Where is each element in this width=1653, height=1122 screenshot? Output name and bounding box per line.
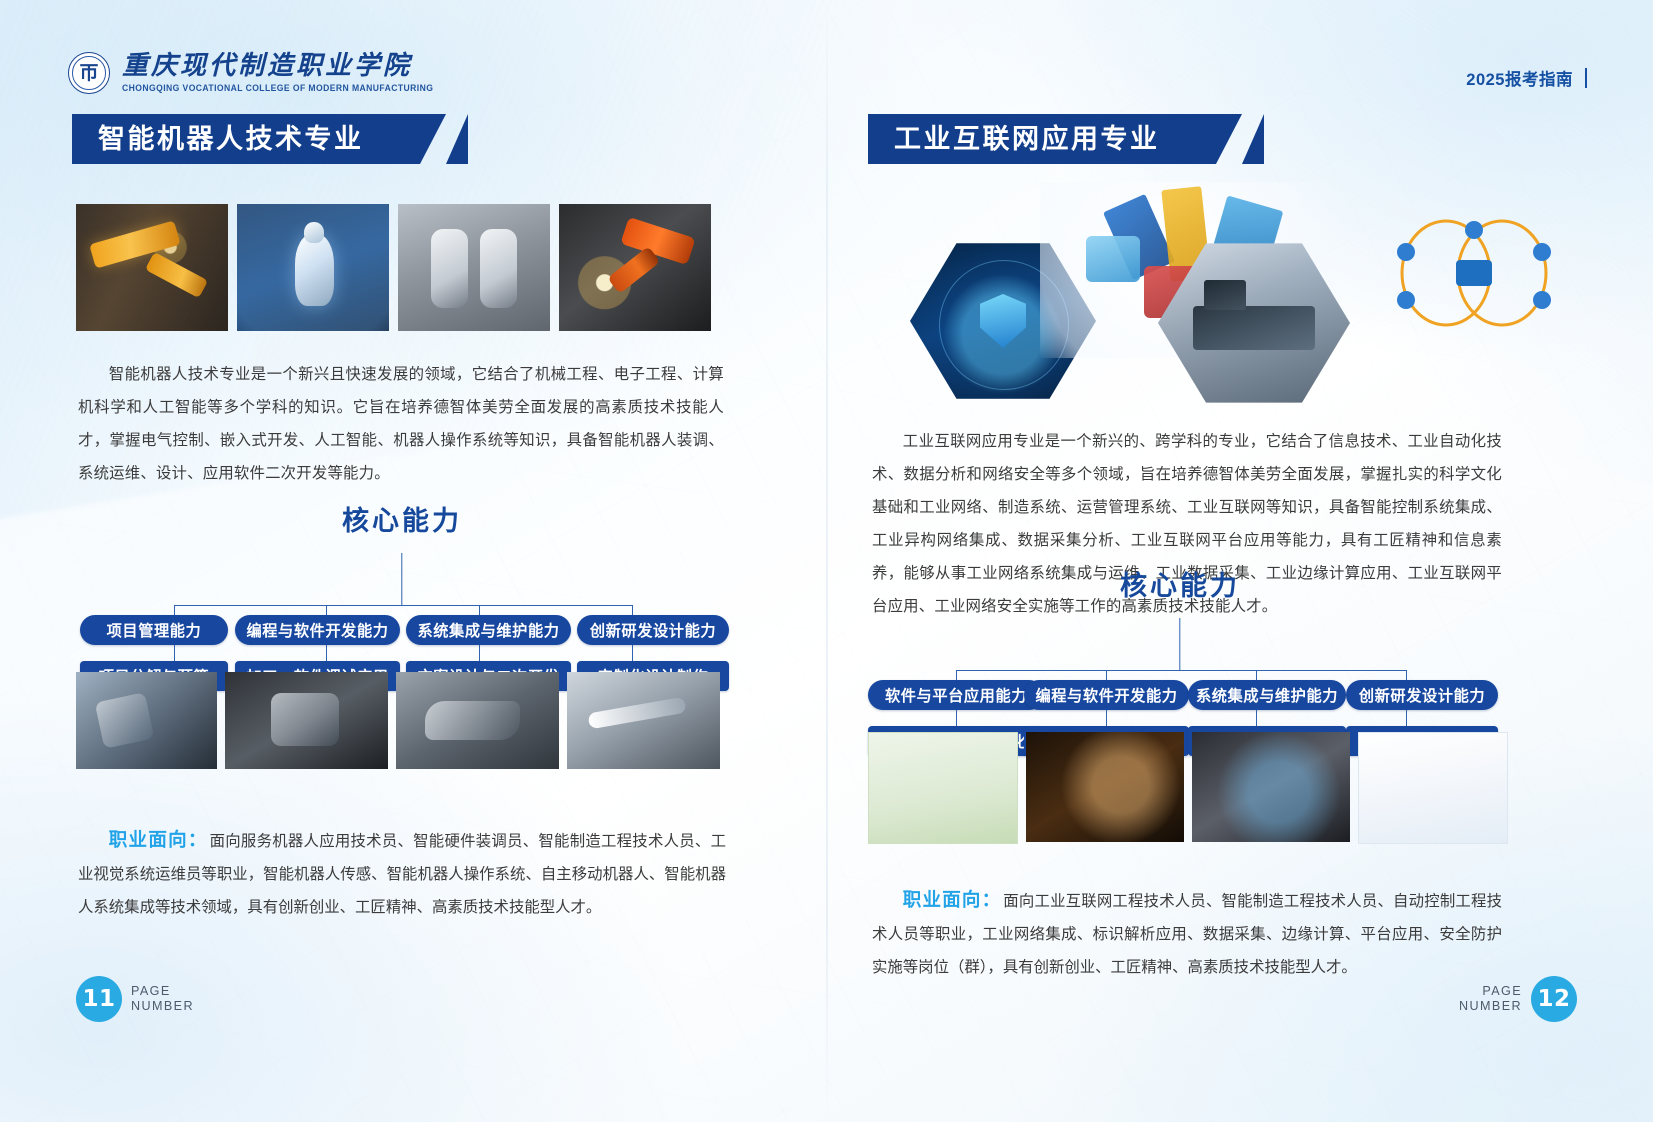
- fiber-optic-photo: [1026, 732, 1184, 842]
- tree-rail: [174, 605, 632, 606]
- left-photo-row: [76, 204, 711, 331]
- right-career-block: 职业面向：面向工业互联网工程技术人员、智能制造工程技术人员、自动控制工程技术人员…: [872, 883, 1502, 984]
- left-core-top-chip-2: 编程与软件开发能力: [235, 615, 400, 645]
- devops-infinity-loop-diagram: [1390, 208, 1558, 338]
- right-core-top-chip-1: 软件与平台应用能力: [868, 680, 1044, 710]
- college-masthead: 帀 重庆现代制造职业学院 CHONGQING VOCATIONAL COLLEG…: [68, 52, 433, 94]
- left-core-top-chip-4: 创新研发设计能力: [577, 615, 729, 645]
- right-page-word-top: PAGE: [1482, 984, 1522, 999]
- right-core-top-chip-2: 编程与软件开发能力: [1024, 680, 1189, 710]
- left-section-banner: 智能机器人技术专业: [72, 114, 468, 164]
- left-core-top-chip-1: 项目管理能力: [80, 615, 228, 645]
- right-banner-title: 工业互联网应用专业: [894, 126, 1160, 153]
- left-banner-wedge: [446, 114, 468, 164]
- left-core-top-chip-3: 系统集成与维护能力: [406, 615, 571, 645]
- left-page-word-bottom: NUMBER: [131, 999, 194, 1014]
- right-page-number-words: PAGE NUMBER: [1459, 984, 1522, 1014]
- left-career-label: 职业面向：: [109, 829, 208, 850]
- right-page-number: PAGE NUMBER 12: [1459, 976, 1577, 1022]
- guide-divider: [1585, 68, 1587, 88]
- right-banner-wedge: [1242, 114, 1264, 164]
- industrial-internet-poster: [1358, 732, 1508, 844]
- cloud-device-photo: [1192, 732, 1350, 842]
- college-name-cn: 重庆现代制造职业学院: [122, 53, 433, 80]
- left-page-number: 11 PAGE NUMBER: [76, 976, 194, 1022]
- right-banner-plate: 工业互联网应用专业: [868, 114, 1216, 164]
- college-name-en: CHONGQING VOCATIONAL COLLEGE OF MODERN M…: [122, 82, 433, 93]
- left-career-paragraph: 职业面向：面向服务机器人应用技术员、智能硬件装调员、智能制造工程技术人员、工业视…: [78, 823, 726, 924]
- left-page-number-words: PAGE NUMBER: [131, 984, 194, 1014]
- crest-glyph: 帀: [69, 53, 109, 93]
- left-intro-paragraph: 智能机器人技术专业是一个新兴且快速发展的领域，它结合了机械工程、电子工程、计算机…: [78, 358, 724, 490]
- right-page-number-bubble: 12: [1531, 976, 1577, 1022]
- college-crest-icon: 帀: [68, 52, 110, 94]
- tree-rail: [956, 670, 1406, 671]
- right-core-top-chip-3: 系统集成与维护能力: [1188, 680, 1346, 710]
- left-banner-plate: 智能机器人技术专业: [72, 114, 420, 164]
- right-core-top-chip-4: 创新研发设计能力: [1346, 680, 1498, 710]
- left-core-title: 核心能力: [76, 508, 728, 535]
- left-page-number-bubble: 11: [76, 976, 122, 1022]
- diagram-panel-6: [1086, 236, 1140, 282]
- masthead-text: 重庆现代制造职业学院 CHONGQING VOCATIONAL COLLEGE …: [122, 53, 433, 92]
- robot-hand-photo: [396, 672, 559, 769]
- robot-cell-photo: [76, 672, 217, 769]
- left-career-block: 职业面向：面向服务机器人应用技术员、智能硬件装调员、智能制造工程技术人员、工业视…: [78, 823, 726, 924]
- right-page-word-bottom: NUMBER: [1459, 999, 1522, 1014]
- page-fold-line: [826, 0, 828, 1122]
- admission-guide-tag: 2025报考指南: [1466, 66, 1587, 90]
- robot-arm-detail-photo: [567, 672, 720, 769]
- left-page-word-top: PAGE: [131, 984, 194, 999]
- guide-label: 2025报考指南: [1466, 66, 1573, 90]
- right-section-banner: 工业互联网应用专业: [868, 114, 1264, 164]
- left-banner-title: 智能机器人技术专业: [98, 126, 364, 153]
- left-intro-text: 智能机器人技术专业是一个新兴且快速发展的领域，它结合了机械工程、电子工程、计算机…: [78, 358, 724, 490]
- right-career-paragraph: 职业面向：面向工业互联网工程技术人员、智能制造工程技术人员、自动控制工程技术人员…: [872, 883, 1502, 984]
- welding-robot-photo: [559, 204, 711, 331]
- right-core-title: 核心能力: [860, 573, 1500, 600]
- brochure-page-spread: 帀 重庆现代制造职业学院 CHONGQING VOCATIONAL COLLEG…: [0, 0, 1653, 1122]
- right-gallery-row: [868, 732, 1508, 844]
- tree-stem: [401, 553, 402, 605]
- tree-stem: [1179, 618, 1180, 670]
- smart-factory-diagram-photo: [868, 732, 1018, 844]
- exoskeleton-robot-photo: [398, 204, 550, 331]
- left-gallery-row: [76, 672, 720, 769]
- right-career-label: 职业面向：: [903, 889, 1002, 910]
- industrial-robot-arm-photo: [76, 204, 228, 331]
- right-hex-collage: [900, 182, 1580, 422]
- humanoid-robot-photo: [237, 204, 389, 331]
- robot-assembly-photo: [225, 672, 388, 769]
